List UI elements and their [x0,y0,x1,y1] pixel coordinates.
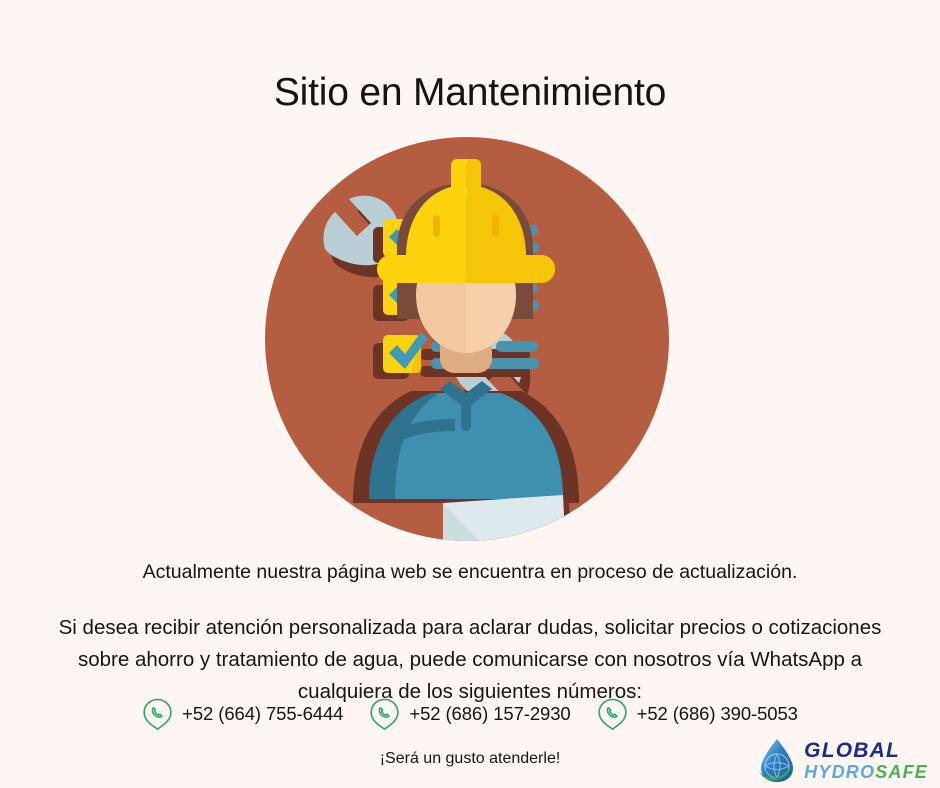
phone-number-2[interactable]: +52 (686) 157-2930 [409,703,570,725]
water-droplet-globe-icon [754,736,800,784]
maintenance-page: Sitio en Mantenimiento [0,0,940,788]
phone-item-1[interactable]: +52 (664) 755-6444 [142,698,343,730]
body-line-1: Si desea recibir atención personalizada … [10,612,930,644]
illustration-container [265,137,669,541]
logo-hydro-text: HYDRO [804,762,875,782]
whatsapp-phone-list: +52 (664) 755-6444 +52 (686) 157-2930 +5… [0,698,940,730]
logo-safe-text: SAFE [875,762,928,782]
logo-global-text: GLOBAL [804,740,928,761]
logo-wordmark: GLOBAL HYDROSAFE [804,740,928,781]
phone-number-3[interactable]: +52 (686) 390-5053 [637,703,798,725]
phone-item-2[interactable]: +52 (686) 157-2930 [369,698,570,730]
whatsapp-phone-pin-icon [369,698,400,730]
maintenance-lead-text: Actualmente nuestra página web se encuen… [0,558,940,586]
illustration-circle-background [265,137,669,541]
body-line-2: sobre ahorro y tratamiento de agua, pued… [10,644,930,676]
paper-document [443,495,575,541]
global-hydrosafe-logo: GLOBAL HYDROSAFE [754,736,928,784]
phone-item-3[interactable]: +52 (686) 390-5053 [597,698,798,730]
logo-hydrosafe-text: HYDROSAFE [804,763,928,781]
page-title: Sitio en Mantenimiento [0,72,940,115]
maintenance-body-text: Si desea recibir atención personalizada … [10,612,930,707]
whatsapp-phone-pin-icon [597,698,628,730]
maintenance-worker-illustration [265,137,669,541]
whatsapp-phone-pin-icon [142,698,173,730]
phone-number-1[interactable]: +52 (664) 755-6444 [182,703,343,725]
